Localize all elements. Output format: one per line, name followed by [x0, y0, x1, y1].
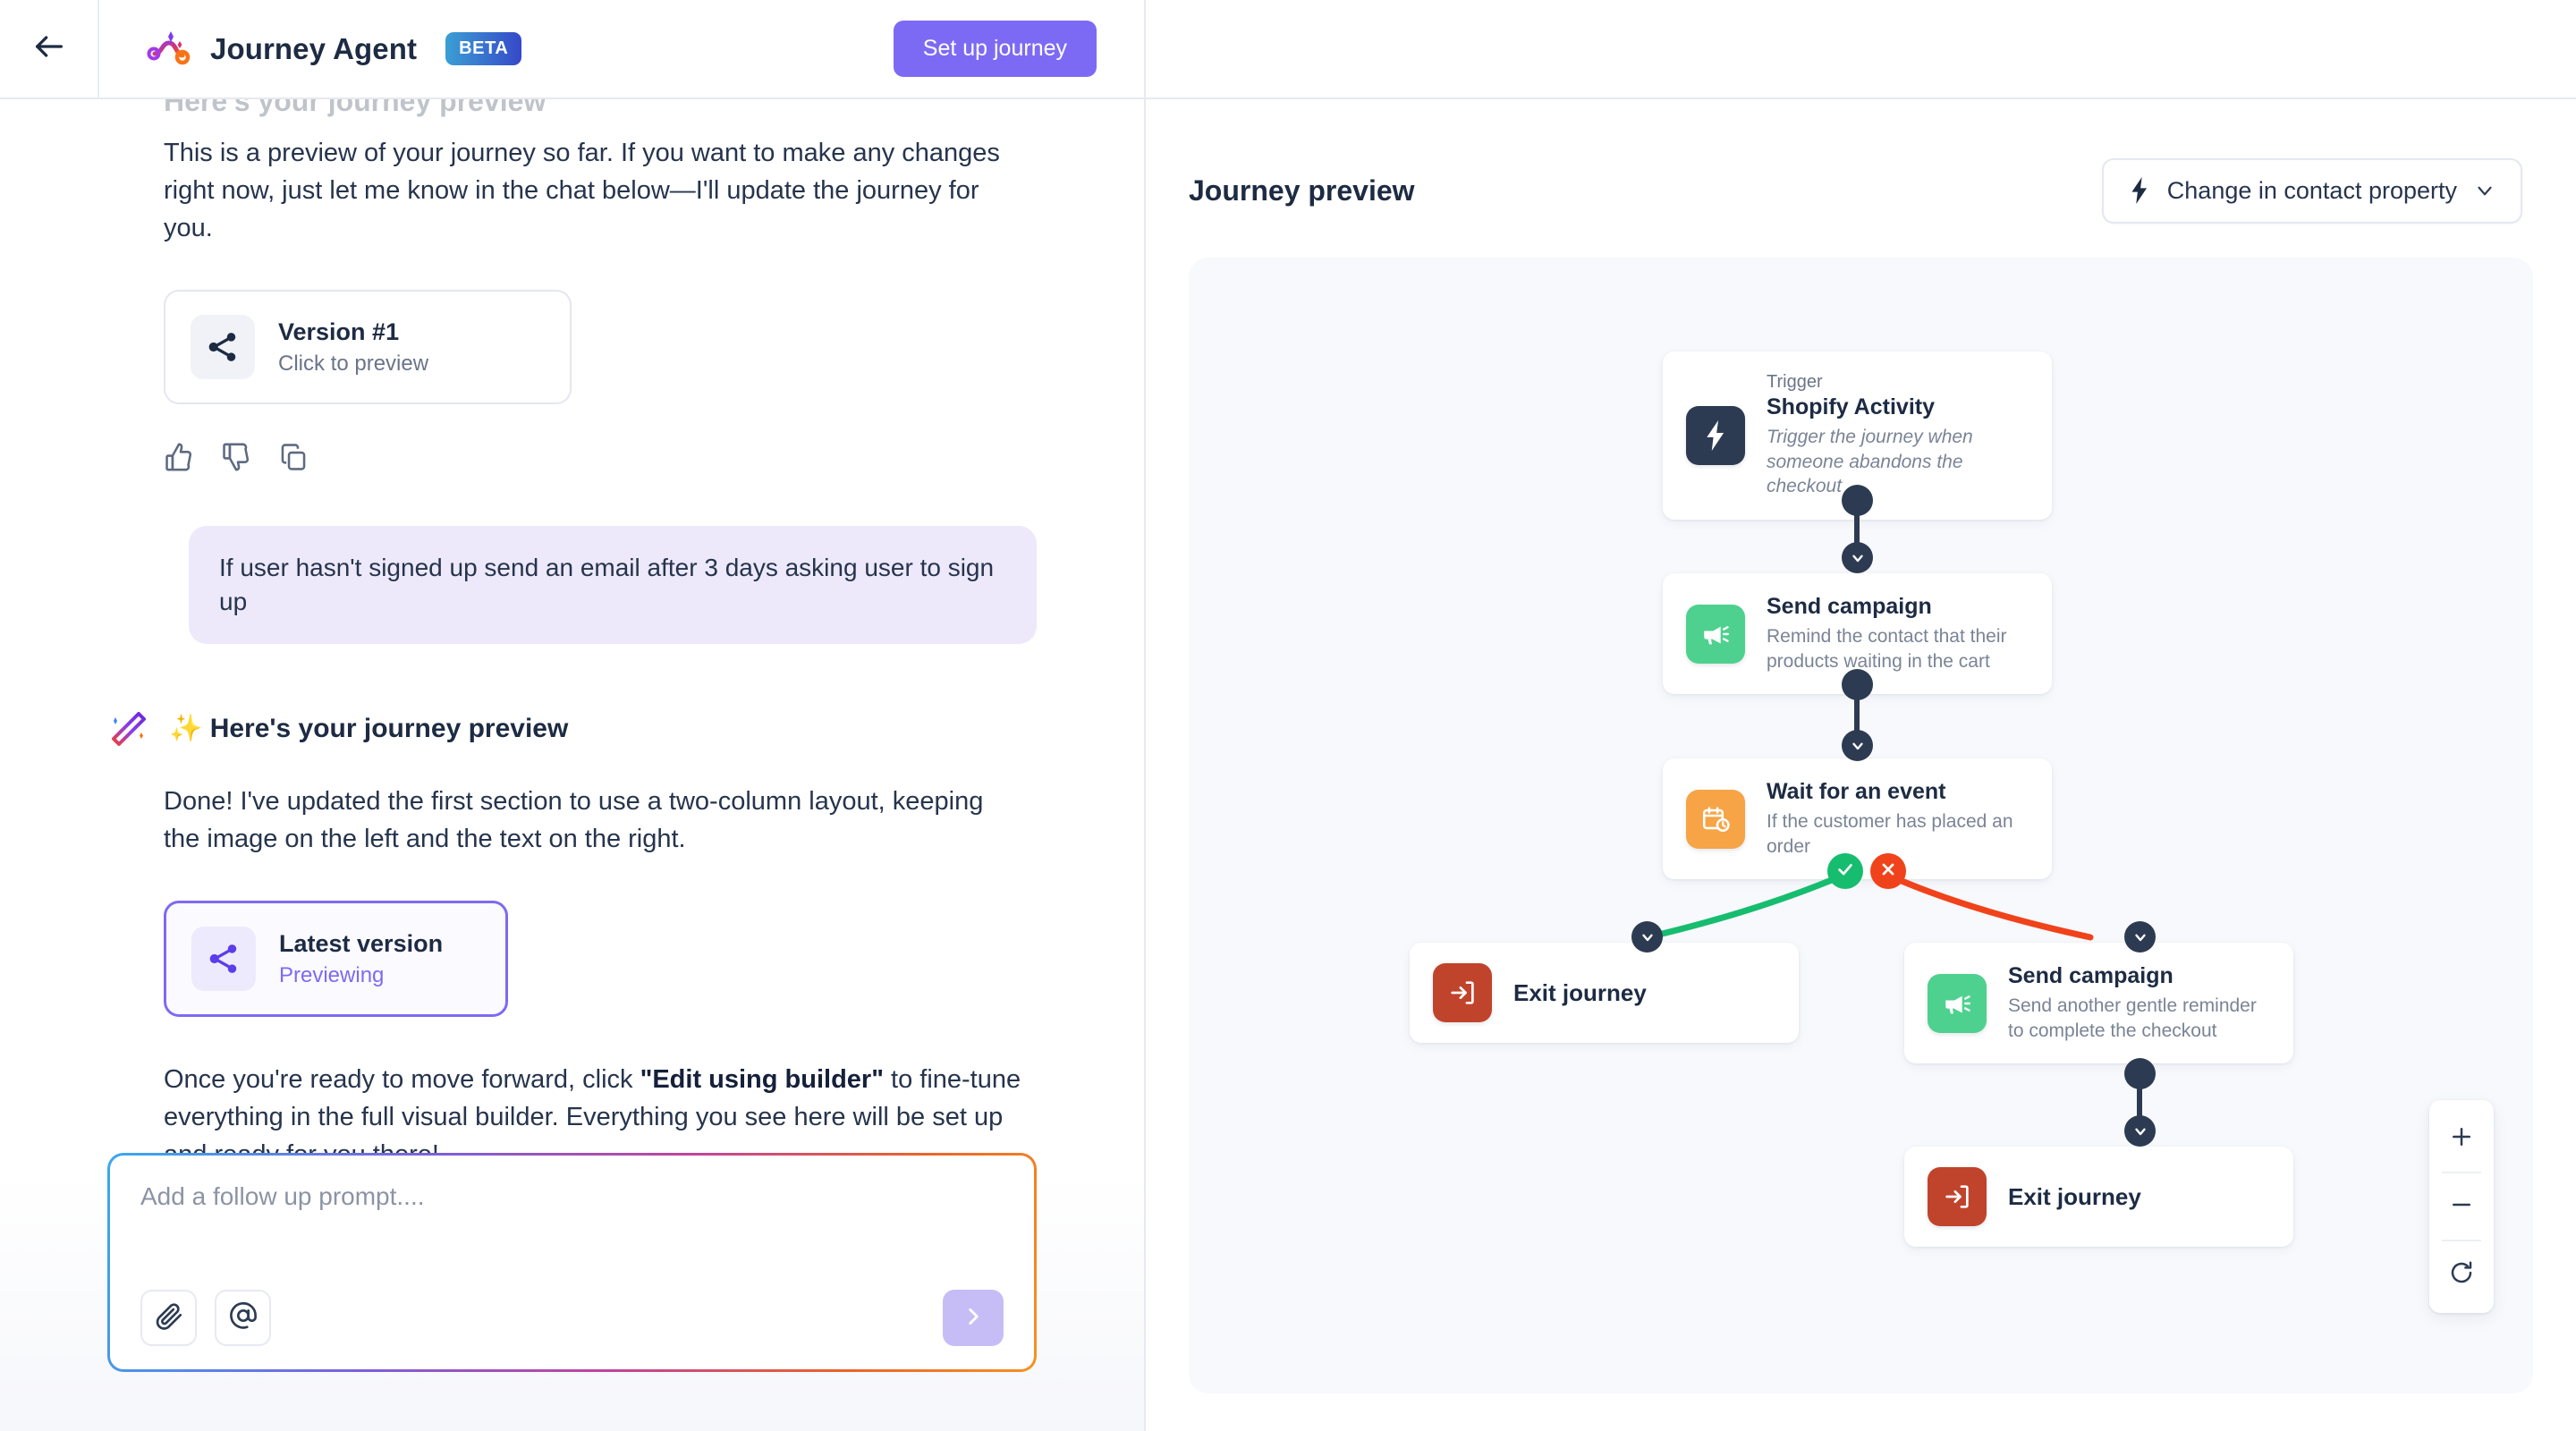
- branch-no-edge: [1887, 875, 2090, 937]
- assistant-message-2-text-2: Once you're ready to move forward, click…: [164, 1062, 1022, 1153]
- connector-dot: [1842, 669, 1873, 700]
- connector-dot: [1842, 485, 1873, 516]
- version-card-subtitle: Click to preview: [278, 351, 428, 377]
- composer-area: Add a follow up prompt....: [0, 1153, 1144, 1431]
- edit-using-builder-emphasis: "Edit using builder": [640, 1065, 884, 1094]
- connector-dot: [2124, 1058, 2156, 1089]
- assistant-heading: ✨ Here's your journey preview: [169, 713, 568, 744]
- connector-chevron-button[interactable]: [1631, 921, 1663, 953]
- beta-badge: BETA: [445, 32, 521, 65]
- connector-chevron-button[interactable]: [2124, 1115, 2156, 1147]
- chat-panel: Journey Agent BETA Set up journey Here's…: [0, 0, 1146, 1431]
- prompt-input[interactable]: Add a follow up prompt....: [140, 1182, 1004, 1211]
- journey-nodes-icon: [191, 927, 256, 991]
- assistant-message-1-text: This is a preview of your journey so far…: [164, 135, 1022, 247]
- version-card-v1[interactable]: Version #1 Click to preview: [164, 290, 572, 404]
- paperclip-icon: [154, 1300, 184, 1335]
- thumbs-up-icon[interactable]: [164, 442, 194, 472]
- check-circle-icon: [1835, 859, 1855, 884]
- branch-yes-badge: [1827, 853, 1863, 889]
- page-title: Journey Agent: [210, 32, 417, 66]
- prompt-composer[interactable]: Add a follow up prompt....: [107, 1153, 1037, 1372]
- assistant-heading-row: ✨ Here's your journey preview: [108, 708, 1037, 749]
- branch-yes-edge: [1648, 875, 1844, 937]
- sparkle-wand-icon: [108, 708, 149, 749]
- journey-nodes-icon: [191, 315, 255, 379]
- send-prompt-button[interactable]: [943, 1290, 1004, 1346]
- at-mention-icon: [228, 1300, 258, 1335]
- arrow-left-icon: [31, 29, 67, 69]
- assistant-message-2-text: Done! I've updated the first section to …: [164, 783, 1022, 859]
- text-pre: Once you're ready to move forward, click: [164, 1065, 640, 1094]
- trigger-select-label: Change in contact property: [2167, 177, 2457, 205]
- branch-no-badge: [1870, 853, 1906, 889]
- version-card-title: Latest version: [279, 930, 443, 958]
- version-card-latest[interactable]: Latest version Previewing: [164, 901, 508, 1017]
- connector-chevron-button[interactable]: [1842, 542, 1873, 573]
- lightning-bolt-icon: [2128, 177, 2151, 204]
- chevron-down-icon: [2473, 179, 2496, 202]
- assistant-message-1: This is a preview of your journey so far…: [164, 99, 1037, 472]
- chat-message-list[interactable]: Here's your journey preview This is a pr…: [0, 99, 1144, 1153]
- journey-agent-app: Journey Agent BETA Set up journey Here's…: [0, 0, 2576, 1431]
- version-card-title: Version #1: [278, 318, 428, 346]
- connector-chevron-button[interactable]: [2124, 921, 2156, 953]
- x-circle-icon: [1878, 859, 1898, 884]
- preview-header-strip: [1146, 0, 2576, 99]
- mention-button[interactable]: [215, 1290, 271, 1346]
- user-message: If user hasn't signed up send an email a…: [189, 526, 1037, 644]
- assistant-message-2: ✨ Here's your journey preview Done! I've…: [164, 708, 1037, 1153]
- journey-preview-panel: Journey preview Change in contact proper…: [1146, 0, 2576, 1431]
- thumbs-down-icon[interactable]: [221, 442, 251, 472]
- journey-canvas[interactable]: Trigger Shopify Activity Trigger the jou…: [1189, 258, 2533, 1393]
- preview-title: Journey preview: [1189, 174, 1415, 207]
- setup-journey-button[interactable]: Set up journey: [894, 21, 1097, 77]
- preview-toolbar: Journey preview Change in contact proper…: [1146, 148, 2576, 233]
- attach-file-button[interactable]: [140, 1290, 197, 1346]
- header-actions: Set up journey: [894, 21, 1144, 77]
- chevron-right-icon: [962, 1305, 985, 1331]
- composer-toolbar: [140, 1290, 1004, 1346]
- branch-connectors: [1189, 258, 2533, 1393]
- version-card-subtitle: Previewing: [279, 963, 443, 988]
- feedback-row-1: [164, 442, 1037, 472]
- clipped-previous-heading: Here's your journey preview: [164, 99, 546, 118]
- copy-icon[interactable]: [278, 442, 309, 472]
- journey-agent-logo-icon: [146, 26, 192, 72]
- trigger-select[interactable]: Change in contact property: [2102, 158, 2522, 224]
- app-header: Journey Agent BETA Set up journey: [0, 0, 1144, 99]
- connector-chevron-button[interactable]: [1842, 730, 1873, 761]
- back-button[interactable]: [0, 0, 99, 98]
- brand: Journey Agent BETA: [99, 26, 521, 72]
